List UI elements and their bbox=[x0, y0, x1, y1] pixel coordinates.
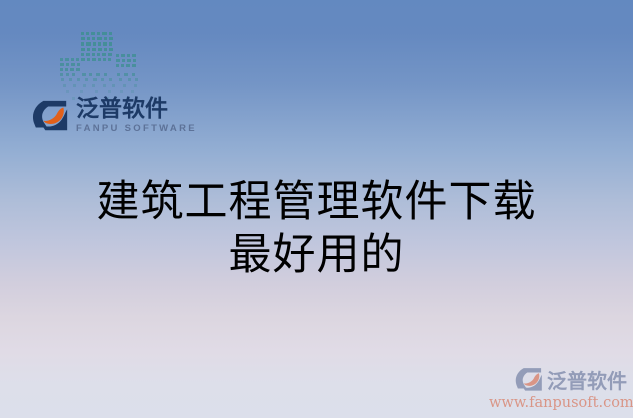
watermark-logo-row: 泛普软件 bbox=[489, 366, 627, 395]
fanpu-logo-mark-icon bbox=[32, 98, 70, 136]
watermark: 泛普软件 www.fanpusoft.com bbox=[489, 366, 627, 412]
page-title-line-1: 建筑工程管理软件下载 bbox=[0, 176, 633, 229]
brand-name-en: FANPU SOFTWARE bbox=[76, 123, 197, 135]
page-title: 建筑工程管理软件下载 最好用的 bbox=[0, 176, 633, 282]
pixel-city-skyline-icon bbox=[56, 10, 152, 106]
page-title-line-2: 最好用的 bbox=[0, 229, 633, 282]
watermark-name-cn: 泛普软件 bbox=[547, 370, 627, 392]
brand-name-cn: 泛普软件 bbox=[76, 96, 197, 122]
fanpu-logo-mark-watermark-icon bbox=[515, 366, 544, 395]
watermark-url: www.fanpusoft.com bbox=[489, 395, 627, 412]
brand-logo: 泛普软件 FANPU SOFTWARE bbox=[32, 96, 197, 136]
promo-banner: 泛普软件 FANPU SOFTWARE 建筑工程管理软件下载 最好用的 泛普软件… bbox=[0, 0, 633, 418]
brand-text: 泛普软件 FANPU SOFTWARE bbox=[76, 96, 197, 135]
